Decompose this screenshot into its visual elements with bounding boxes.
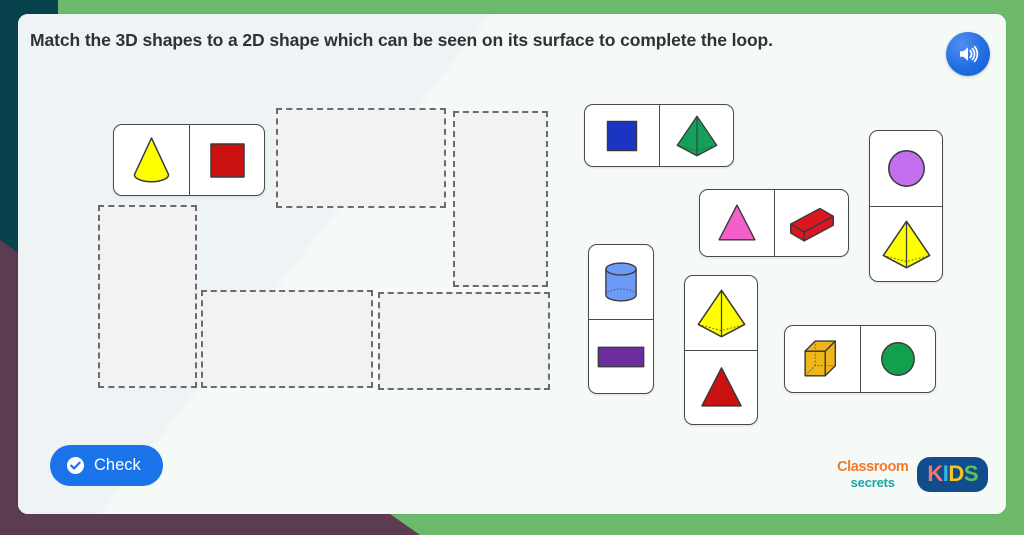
tile-half-rectangle — [589, 319, 653, 393]
drop-zone[interactable] — [276, 108, 446, 208]
tile-half-circle — [860, 326, 935, 392]
placed-domino-tile[interactable] — [113, 124, 265, 196]
draggable-domino-tile[interactable] — [588, 244, 654, 394]
draggable-domino-tile[interactable] — [584, 104, 734, 167]
kids-logo-letter: S — [964, 463, 978, 485]
draggable-domino-tile[interactable] — [784, 325, 936, 393]
classroom-secrets-line1: Classroom — [837, 460, 908, 475]
kids-logo: KIDS — [917, 457, 988, 492]
activity-stage: Match the 3D shapes to a 2D shape which … — [0, 0, 1024, 535]
branding-logos: Classroom secrets KIDS — [837, 457, 988, 492]
rectangle-shape — [594, 330, 648, 384]
page-title: Match the 3D shapes to a 2D shape which … — [30, 29, 920, 53]
drop-zone[interactable] — [378, 292, 550, 390]
circle-shape — [870, 331, 926, 387]
circle-shape — [876, 138, 937, 199]
audio-play-button[interactable] — [946, 32, 990, 76]
tile-half-cuboid — [774, 190, 848, 256]
tile-half-triangle — [685, 350, 757, 424]
square-pyramid-shape — [691, 283, 752, 344]
activity-card: Match the 3D shapes to a 2D shape which … — [18, 14, 1006, 514]
tile-half-cone — [114, 125, 189, 195]
square-pyramid-shape — [876, 214, 937, 275]
tile-half-square — [585, 105, 659, 166]
cylinder-shape — [594, 255, 648, 309]
classroom-secrets-line2: secrets — [851, 476, 895, 489]
check-button[interactable]: Check — [50, 445, 163, 486]
square-pyramid-shape — [671, 110, 723, 162]
tile-half-cylinder — [589, 245, 653, 319]
kids-logo-letter: D — [948, 463, 963, 485]
kids-logo-letter: K — [927, 463, 942, 485]
square-shape — [596, 110, 648, 162]
speaker-icon — [956, 42, 980, 66]
check-circle-icon — [66, 456, 85, 475]
tile-half-square — [189, 125, 264, 195]
classroom-secrets-logo: Classroom secrets — [837, 460, 908, 489]
tile-half-triangle — [700, 190, 774, 256]
drop-zone[interactable] — [201, 290, 373, 388]
square-shape — [198, 131, 257, 190]
triangle-shape — [691, 357, 752, 418]
draggable-domino-tile[interactable] — [684, 275, 758, 425]
tile-half-square-pyramid — [685, 276, 757, 350]
tile-half-circle — [870, 131, 942, 206]
tile-half-square-pyramid — [659, 105, 733, 166]
cube-shape — [795, 331, 851, 387]
drop-zone[interactable] — [98, 205, 197, 388]
tile-half-cube — [785, 326, 860, 392]
draggable-domino-tile[interactable] — [869, 130, 943, 282]
tile-half-square-pyramid — [870, 206, 942, 281]
drop-zone[interactable] — [453, 111, 548, 287]
draggable-domino-tile[interactable] — [699, 189, 849, 257]
check-button-label: Check — [94, 456, 141, 475]
cone-shape — [122, 131, 181, 190]
triangle-shape — [709, 195, 765, 251]
cuboid-shape — [784, 195, 840, 251]
